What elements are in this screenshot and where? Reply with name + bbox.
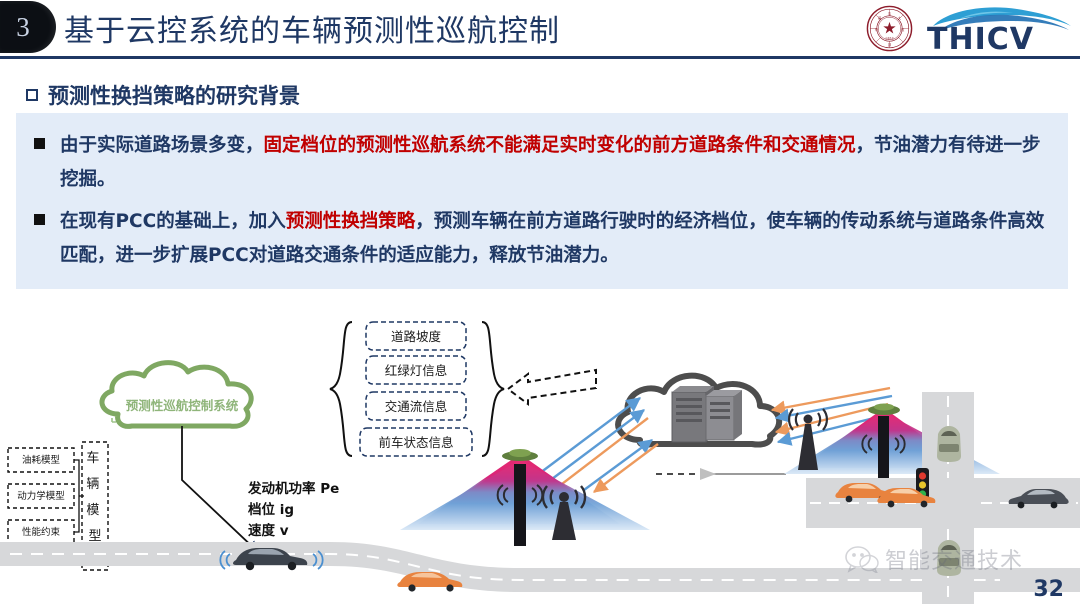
vehicle-params-label: 发动机功率 Pe 档位 ig 速度 v <box>247 480 344 539</box>
tsinghua-university-seal-icon: 清 華 大 學 校 訓 自強不息 <box>866 5 913 52</box>
slide-header: 3 基于云控系统的车辆预测性巡航控制 清 華 大 學 校 訓 <box>0 0 1080 58</box>
section-heading: 预测性换挡策略的研究背景 <box>26 80 300 110</box>
bullet-segment: 由于实际道路场景多变， <box>60 135 264 156</box>
bullet-segment: ， <box>856 135 875 156</box>
slide-number-text: 3 <box>0 1 46 53</box>
svg-text:訓: 訓 <box>888 42 892 47</box>
wechat-logo-icon <box>845 545 879 573</box>
watermark: 智能交通技术 <box>845 543 1055 575</box>
cloud-to-vehicle-arrow <box>182 426 258 552</box>
hollow-square-bullet-icon <box>26 89 38 101</box>
filled-square-bullet-icon <box>34 214 45 225</box>
vehicle-model-vertical-label: 车 辆 模 型 <box>86 450 103 544</box>
curly-brace-left-icon <box>330 322 352 456</box>
svg-text:華: 華 <box>878 16 882 21</box>
section-heading-text: 预测性换挡策略的研究背景 <box>48 80 300 110</box>
info-box-label: 道路坡度 <box>391 329 442 344</box>
pcc-cloud-label: 预测性巡航控制系统 <box>126 398 239 413</box>
svg-text:大: 大 <box>898 16 902 21</box>
pcc-cloud: 预测性巡航控制系统 <box>102 363 251 427</box>
arrow-head <box>700 468 716 480</box>
info-box-label: 前车状态信息 <box>378 435 453 450</box>
param-line: 发动机功率 Pe <box>247 480 339 497</box>
bullet-item: 由于实际道路场景多变，固定档位的预测性巡航系统不能满足实时变化的前方道路条件和交… <box>34 129 1054 197</box>
roadside-unit-pole <box>514 464 526 546</box>
filled-square-bullet-icon <box>34 138 45 149</box>
model-box-label: 性能约束 <box>22 526 61 538</box>
green-cloud-icon <box>102 363 251 427</box>
roadside-unit-pole <box>878 416 889 488</box>
bullet-item: 在现有PCC的基础上，加入预测性换挡策略，预测车辆在前方道路行驶时的经济档位，使… <box>34 205 1054 273</box>
svg-text:校: 校 <box>901 27 905 32</box>
svg-text:自強不息: 自強不息 <box>885 36 893 40</box>
info-box-label: 交通流信息 <box>385 399 448 414</box>
bullet-segment-emphasis: 预测性换挡策略 <box>286 211 416 232</box>
server-racks <box>672 386 742 442</box>
model-box-label: 动力学模型 <box>17 490 65 502</box>
bullet-segment-emphasis: 固定档位的预测性巡航系统不能满足实时变化的前方道路条件和交通情况 <box>264 135 856 156</box>
brand-logo-text: THICV <box>927 22 1034 52</box>
bullet-segment: 在现有PCC的基础上，加入 <box>60 211 286 232</box>
bullet-text: 在现有PCC的基础上，加入预测性换挡策略，预测车辆在前方道路行驶时的经济档位，使… <box>60 205 1054 273</box>
brand-logo: THICV <box>925 6 1073 52</box>
curly-brace-right-icon <box>482 322 504 456</box>
model-box-label: 油耗模型 <box>22 454 61 466</box>
slide-number-badge: 3 <box>0 1 56 53</box>
bullet-text: 由于实际道路场景多变，固定档位的预测性巡航系统不能满足实时变化的前方道路条件和交… <box>60 129 1054 197</box>
dashed-arrow-left-icon <box>508 370 596 404</box>
content-panel: 由于实际道路场景多变，固定档位的预测性巡航系统不能满足实时变化的前方道路条件和交… <box>16 113 1068 289</box>
page-number: 32 <box>1033 577 1064 602</box>
param-line: 档位 ig <box>248 501 294 518</box>
info-box-label: 红绿灯信息 <box>385 363 448 378</box>
page-title: 基于云控系统的车辆预测性巡航控制 <box>64 6 560 50</box>
info-boxes-group: 道路坡度 红绿灯信息 交通流信息 前车状态信息 <box>330 322 504 456</box>
watermark-text: 智能交通技术 <box>885 543 1023 575</box>
param-line: 速度 v <box>248 522 289 539</box>
svg-text:清: 清 <box>888 11 892 16</box>
silver-car-icon <box>937 426 961 462</box>
header-divider <box>0 56 1080 59</box>
